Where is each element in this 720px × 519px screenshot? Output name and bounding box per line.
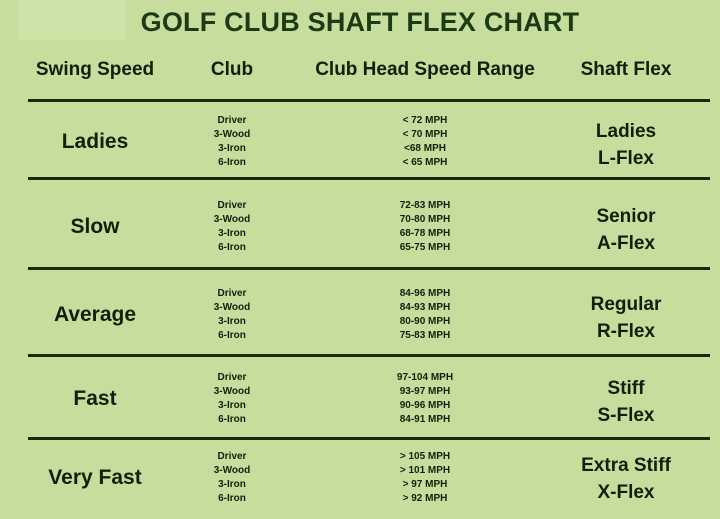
cell-club-list: Driver 3-Wood 3-Iron 6-Iron <box>172 450 292 506</box>
club-name: 3-Wood <box>172 385 292 399</box>
cell-speed-range-list: < 72 MPH < 70 MPH <68 MPH < 65 MPH <box>300 114 550 170</box>
speed-range: 84-91 MPH <box>300 413 550 427</box>
speed-range: < 65 MPH <box>300 156 550 170</box>
club-name: 6-Iron <box>172 413 292 427</box>
cell-club-list: Driver 3-Wood 3-Iron 6-Iron <box>172 114 292 170</box>
speed-range: < 70 MPH <box>300 128 550 142</box>
shaft-flex-code: R-Flex <box>552 318 700 345</box>
page-title: GOLF CLUB SHAFT FLEX CHART <box>0 7 720 38</box>
shaft-flex-name: Extra Stiff <box>552 452 700 479</box>
club-name: Driver <box>172 199 292 213</box>
cell-shaft-flex: Ladies L-Flex <box>552 118 700 172</box>
speed-range: > 92 MPH <box>300 492 550 506</box>
club-name: 3-Iron <box>172 227 292 241</box>
shaft-flex-chart: GOLF CLUB SHAFT FLEX CHART Swing Speed C… <box>0 0 720 519</box>
club-name: Driver <box>172 450 292 464</box>
cell-swing-speed: Slow <box>20 215 170 239</box>
header-separator-rule <box>28 99 710 102</box>
speed-range: 72-83 MPH <box>300 199 550 213</box>
speed-range: 65-75 MPH <box>300 241 550 255</box>
club-name: 3-Iron <box>172 142 292 156</box>
cell-speed-range-list: > 105 MPH > 101 MPH > 97 MPH > 92 MPH <box>300 450 550 506</box>
club-name: 3-Wood <box>172 128 292 142</box>
cell-swing-speed: Very Fast <box>20 466 170 490</box>
club-name: Driver <box>172 287 292 301</box>
column-header-club-head-speed-range: Club Head Speed Range <box>300 59 550 81</box>
speed-range: 68-78 MPH <box>300 227 550 241</box>
shaft-flex-code: X-Flex <box>552 479 700 506</box>
cell-swing-speed: Ladies <box>20 130 170 154</box>
cell-speed-range-list: 84-96 MPH 84-93 MPH 80-90 MPH 75-83 MPH <box>300 287 550 343</box>
row-separator-rule <box>28 437 710 440</box>
speed-range: 75-83 MPH <box>300 329 550 343</box>
club-name: Driver <box>172 371 292 385</box>
row-separator-rule <box>28 354 710 357</box>
cell-shaft-flex: Extra Stiff X-Flex <box>552 452 700 506</box>
cell-swing-speed: Average <box>20 303 170 327</box>
speed-range: 97-104 MPH <box>300 371 550 385</box>
club-name: 6-Iron <box>172 492 292 506</box>
cell-shaft-flex: Regular R-Flex <box>552 291 700 345</box>
cell-club-list: Driver 3-Wood 3-Iron 6-Iron <box>172 287 292 343</box>
club-name: 6-Iron <box>172 241 292 255</box>
club-name: 6-Iron <box>172 329 292 343</box>
speed-range: 90-96 MPH <box>300 399 550 413</box>
shaft-flex-code: S-Flex <box>552 402 700 429</box>
club-name: 3-Wood <box>172 464 292 478</box>
cell-speed-range-list: 97-104 MPH 93-97 MPH 90-96 MPH 84-91 MPH <box>300 371 550 427</box>
cell-speed-range-list: 72-83 MPH 70-80 MPH 68-78 MPH 65-75 MPH <box>300 199 550 255</box>
row-separator-rule <box>28 267 710 270</box>
club-name: 6-Iron <box>172 156 292 170</box>
cell-swing-speed: Fast <box>20 387 170 411</box>
club-name: 3-Iron <box>172 315 292 329</box>
club-name: 3-Wood <box>172 213 292 227</box>
shaft-flex-name: Ladies <box>552 118 700 145</box>
shaft-flex-name: Senior <box>552 203 700 230</box>
speed-range: 80-90 MPH <box>300 315 550 329</box>
shaft-flex-name: Stiff <box>552 375 700 402</box>
speed-range: 84-93 MPH <box>300 301 550 315</box>
speed-range: > 101 MPH <box>300 464 550 478</box>
cell-club-list: Driver 3-Wood 3-Iron 6-Iron <box>172 199 292 255</box>
shaft-flex-code: A-Flex <box>552 230 700 257</box>
cell-shaft-flex: Senior A-Flex <box>552 203 700 257</box>
column-header-swing-speed: Swing Speed <box>20 59 170 81</box>
club-name: Driver <box>172 114 292 128</box>
speed-range: 84-96 MPH <box>300 287 550 301</box>
speed-range: < 72 MPH <box>300 114 550 128</box>
club-name: 3-Iron <box>172 478 292 492</box>
speed-range: > 105 MPH <box>300 450 550 464</box>
club-name: 3-Iron <box>172 399 292 413</box>
speed-range: 93-97 MPH <box>300 385 550 399</box>
speed-range: <68 MPH <box>300 142 550 156</box>
shaft-flex-code: L-Flex <box>552 145 700 172</box>
shaft-flex-name: Regular <box>552 291 700 318</box>
cell-shaft-flex: Stiff S-Flex <box>552 375 700 429</box>
speed-range: 70-80 MPH <box>300 213 550 227</box>
speed-range: > 97 MPH <box>300 478 550 492</box>
column-header-club: Club <box>172 59 292 81</box>
cell-club-list: Driver 3-Wood 3-Iron 6-Iron <box>172 371 292 427</box>
row-separator-rule <box>28 177 710 180</box>
column-header-shaft-flex: Shaft Flex <box>552 59 700 81</box>
club-name: 3-Wood <box>172 301 292 315</box>
